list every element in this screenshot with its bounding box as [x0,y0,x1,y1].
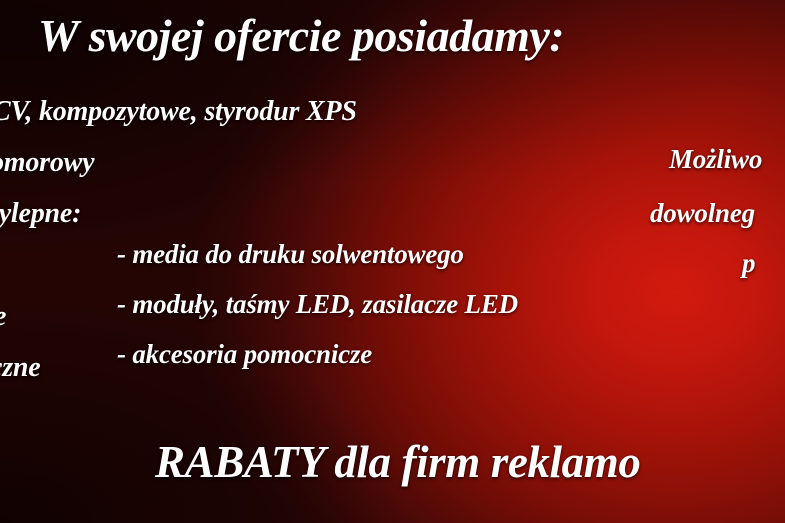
left-column-line-1: CV, kompozytowe, styrodur XPS [0,98,357,126]
footer-headline: RABATY dla firm reklamo [155,440,640,485]
bullet-item-3: - akcesoria pomocnicze [117,341,372,368]
left-column-line-4: e [0,303,6,331]
slide-headline: W swojej ofercie posiadamy: [38,13,564,59]
right-column-line-3: p [742,250,755,277]
bullet-item-1: - media do druku solwentowego [117,241,464,268]
left-column-line-5: czne [0,354,41,382]
right-column-line-1: Możliwo [669,146,762,173]
right-column-line-2: dowolneg [650,200,755,227]
left-column-line-2: omorowy [0,149,94,177]
left-column-line-3: zylepne: [0,200,81,228]
bullet-item-2: - moduły, taśmy LED, zasilacze LED [117,291,518,318]
promo-slide: W swojej ofercie posiadamy: CV, kompozyt… [0,0,785,523]
